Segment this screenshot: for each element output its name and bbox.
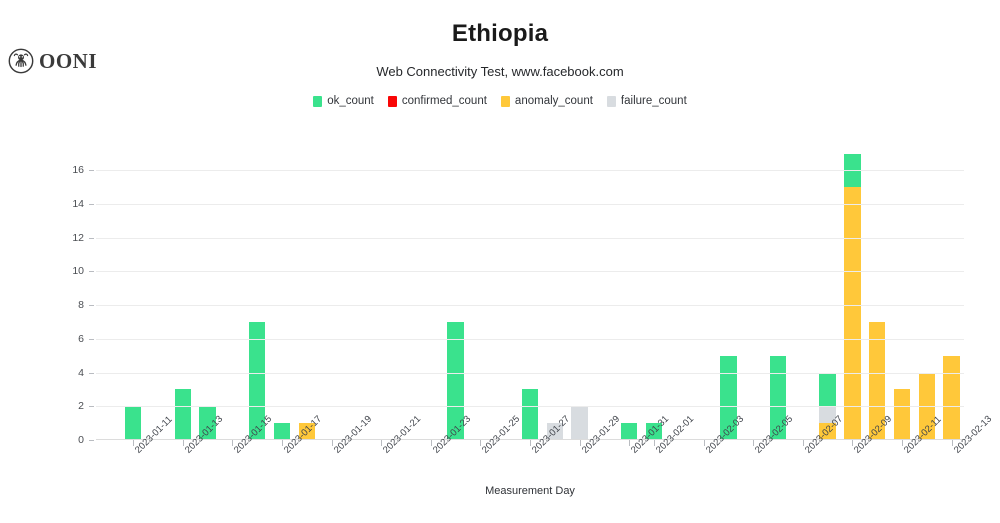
y-axis-tick xyxy=(89,406,94,407)
x-axis-tick xyxy=(654,440,655,446)
x-axis-tick-label-text: 2023-02-07 xyxy=(803,448,811,456)
x-axis-tick-label-text: 2023-01-27 xyxy=(530,448,538,456)
x-axis-tick-label-text: 2023-02-09 xyxy=(852,448,860,456)
x-axis-tick-label-text: 2023-02-01 xyxy=(654,448,662,456)
chart-legend: ok_countconfirmed_countanomaly_countfail… xyxy=(0,95,1000,107)
y-axis-tick xyxy=(89,339,94,340)
bar-stack[interactable] xyxy=(943,356,959,440)
y-axis-tick-label: 14 xyxy=(44,198,84,210)
y-axis-tick-label: 16 xyxy=(44,164,84,176)
x-axis-tick xyxy=(332,440,333,446)
x-axis-tick xyxy=(704,440,705,446)
y-axis-tick-label: 6 xyxy=(44,333,84,345)
bar-stack[interactable] xyxy=(621,423,637,440)
bar-stack[interactable] xyxy=(571,406,587,440)
bar-segment-ok-count[interactable] xyxy=(522,389,538,440)
y-axis-tick-label: 8 xyxy=(44,299,84,311)
y-axis-tick xyxy=(89,238,94,239)
plot-area: Measurement Day 02468101214162023-01-112… xyxy=(96,140,964,440)
y-axis-tick-label: 12 xyxy=(44,232,84,244)
y-gridline xyxy=(96,204,964,205)
bar-stack[interactable] xyxy=(175,389,191,440)
legend-label: ok_count xyxy=(327,95,374,107)
x-axis-tick xyxy=(431,440,432,446)
bar-segment-ok-count[interactable] xyxy=(274,423,290,440)
legend-swatch-icon xyxy=(501,96,510,107)
bar-segment-ok-count[interactable] xyxy=(125,406,141,440)
x-axis-tick xyxy=(902,440,903,446)
y-axis-tick xyxy=(89,373,94,374)
bar-segment-anomaly-count[interactable] xyxy=(943,356,959,440)
legend-item-anomaly-count[interactable]: anomaly_count xyxy=(501,95,593,107)
x-axis-tick-label-text: 2023-01-19 xyxy=(332,448,340,456)
bar-stack[interactable] xyxy=(894,389,910,440)
x-axis-tick-label-text: 2023-02-03 xyxy=(704,448,712,456)
x-axis-tick xyxy=(952,440,953,446)
x-axis-tick-label-text: 2023-01-11 xyxy=(133,448,141,456)
y-gridline xyxy=(96,339,964,340)
y-axis-tick-label: 0 xyxy=(44,434,84,446)
x-axis-tick-label-text: 2023-01-15 xyxy=(232,448,240,456)
x-axis-tick-label-text: 2023-01-25 xyxy=(480,448,488,456)
chart-title: Ethiopia xyxy=(0,20,1000,48)
bar-stack[interactable] xyxy=(274,423,290,440)
legend-swatch-icon xyxy=(313,96,322,107)
y-gridline xyxy=(96,305,964,306)
y-axis-tick xyxy=(89,271,94,272)
bar-segment-ok-count[interactable] xyxy=(175,389,191,440)
x-axis-tick-label-text: 2023-02-11 xyxy=(902,448,910,456)
x-axis-tick xyxy=(282,440,283,446)
y-axis-tick-label: 2 xyxy=(44,400,84,412)
x-axis-tick-label-text: 2023-01-23 xyxy=(431,448,439,456)
x-axis-tick xyxy=(580,440,581,446)
legend-swatch-icon xyxy=(388,96,397,107)
legend-item-ok-count[interactable]: ok_count xyxy=(313,95,374,107)
x-axis-tick-label-text: 2023-01-13 xyxy=(183,448,191,456)
bar-segment-ok-count[interactable] xyxy=(819,373,835,407)
x-axis-tick-label-text: 2023-01-21 xyxy=(381,448,389,456)
bar-stack[interactable] xyxy=(125,406,141,440)
x-axis-tick-label-text: 2023-01-29 xyxy=(580,448,588,456)
x-axis-title: Measurement Day xyxy=(96,485,964,497)
y-gridline xyxy=(96,170,964,171)
chart-page: OONI Ethiopia Web Connectivity Test, www… xyxy=(0,0,1000,523)
x-axis-tick xyxy=(183,440,184,446)
x-axis-tick xyxy=(530,440,531,446)
y-axis-tick xyxy=(89,204,94,205)
x-axis-tick xyxy=(803,440,804,446)
chart-subtitle: Web Connectivity Test, www.facebook.com xyxy=(0,64,1000,79)
y-axis-tick xyxy=(89,170,94,171)
bar-stack[interactable] xyxy=(844,153,860,440)
x-axis-tick-label-text: 2023-01-31 xyxy=(629,448,637,456)
bar-segment-ok-count[interactable] xyxy=(621,423,637,440)
bar-segment-failure-count[interactable] xyxy=(571,406,587,440)
bar-segment-anomaly-count[interactable] xyxy=(894,389,910,440)
y-axis-tick xyxy=(89,305,94,306)
y-gridline xyxy=(96,271,964,272)
y-gridline xyxy=(96,238,964,239)
legend-label: failure_count xyxy=(621,95,687,107)
legend-item-failure-count[interactable]: failure_count xyxy=(607,95,687,107)
y-gridline xyxy=(96,406,964,407)
y-gridline xyxy=(96,373,964,374)
bar-stack[interactable] xyxy=(522,389,538,440)
y-axis-tick xyxy=(89,440,94,441)
legend-swatch-icon xyxy=(607,96,616,107)
y-axis-tick-label: 10 xyxy=(44,265,84,277)
x-axis-tick-label-text: 2023-02-13 xyxy=(952,448,960,456)
x-axis-tick-label-text: 2023-02-05 xyxy=(753,448,761,456)
legend-label: anomaly_count xyxy=(515,95,593,107)
bar-series-group xyxy=(96,140,964,440)
bar-segment-anomaly-count[interactable] xyxy=(844,187,860,440)
x-axis-tick-label-text: 2023-01-17 xyxy=(282,448,290,456)
y-axis-tick-label: 4 xyxy=(44,367,84,379)
legend-item-confirmed-count[interactable]: confirmed_count xyxy=(388,95,487,107)
legend-label: confirmed_count xyxy=(402,95,487,107)
